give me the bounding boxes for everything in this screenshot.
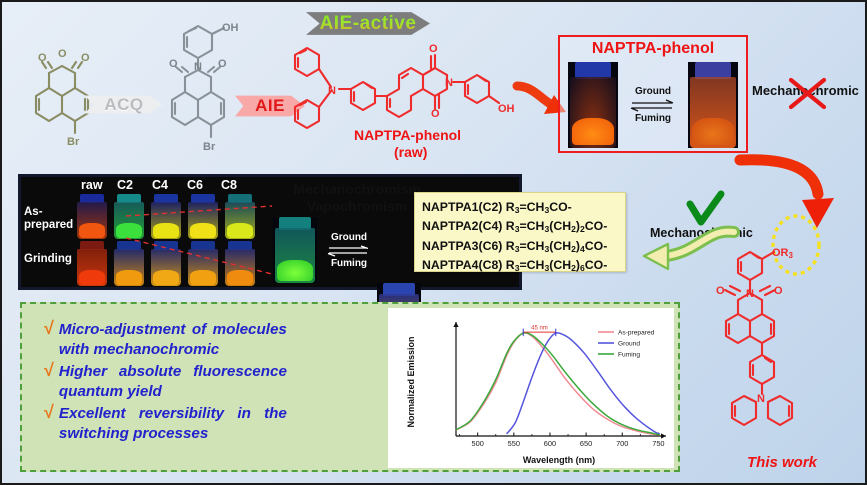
atom-label-o: O	[431, 108, 440, 120]
vial-as-prepared	[568, 62, 618, 148]
atom-label-br: Br	[203, 141, 216, 153]
formula-line-4: NAPTPA4(C8) R3=CH3(CH2)6CO-	[422, 257, 625, 276]
vial-col-header-raw: raw	[81, 178, 103, 192]
svg-text:600: 600	[544, 439, 556, 448]
this-work-molecule: O N O N OR3	[692, 224, 832, 439]
callout-connector-lines	[122, 190, 282, 282]
atom-label-o: O	[429, 43, 438, 55]
naptpa-phenol-name: NAPTPA-phenol	[354, 127, 461, 143]
highlight-text-1: Micro-adjustment of molecules with mecha…	[59, 320, 287, 360]
vial-raw-as-prepared	[76, 194, 108, 239]
naptpa-phenol-state: (raw)	[394, 144, 427, 160]
svg-text:550: 550	[508, 439, 520, 448]
series-as-prepared	[456, 333, 660, 435]
svg-text:750: 750	[652, 439, 664, 448]
atom-label-o: O	[38, 52, 47, 64]
aie-active-label: AIE-active	[320, 13, 417, 35]
vial-row-label-as-prepared: As-prepared	[24, 206, 76, 232]
atom-label-n: N	[194, 61, 202, 73]
legend-entry: As-prepared	[618, 329, 655, 336]
atom-label-n: N	[757, 393, 765, 405]
atom-label-oh: OH	[498, 103, 515, 115]
equilibrium-arrow	[630, 99, 676, 112]
callout-ground-label: Ground	[323, 232, 375, 244]
atom-label-n: N	[445, 77, 453, 89]
peak-shift-annotation: 45 nm	[531, 326, 548, 332]
atom-label-o: O	[774, 285, 783, 297]
svg-text:500: 500	[472, 439, 484, 448]
atom-label-n: N	[328, 85, 336, 97]
aie-active-banner: AIE-active	[306, 10, 430, 37]
check-icon: √	[44, 319, 54, 338]
y-axis-label: Normalized Emission	[406, 336, 416, 427]
equilibrium-arrow	[327, 245, 371, 257]
svg-text:650: 650	[580, 439, 592, 448]
x-axis-label: Wavelength (nm)	[523, 455, 595, 465]
mechanochromic-negative: Mechanochromic	[752, 82, 859, 100]
naptpa-phenol-panel: NAPTPA-phenol Ground Fuming	[558, 35, 748, 153]
atom-label-or3: OR3	[772, 247, 794, 260]
green-check-icon	[686, 192, 726, 228]
formula-box: NAPTPA1(C2) R3=CH3CO- NAPTPA2(C4) R3=CH3…	[414, 192, 626, 272]
highlight-text-2: Higher absolute fluorescence quantum yie…	[59, 362, 287, 402]
legend-entry: Ground	[618, 340, 640, 347]
atom-label-o: O	[218, 58, 227, 70]
callout-fuming-label: Fuming	[323, 258, 375, 270]
spectrum-plot: 50055060065070075045 nmNormalized Emissi…	[388, 308, 674, 468]
atom-label-oh: OH	[222, 22, 239, 34]
svg-text:700: 700	[616, 439, 628, 448]
atom-label-n: N	[746, 288, 754, 300]
formula-line-2: NAPTPA2(C4) R3=CH3(CH2)2CO-	[422, 218, 625, 237]
series-ground	[507, 333, 660, 434]
series-fuming	[456, 333, 660, 435]
check-icon: √	[44, 361, 54, 380]
formula-line-1: NAPTPA1(C2) R3=CH3CO-	[422, 199, 625, 218]
vial-ground	[688, 62, 738, 148]
graphical-abstract: O O O Br ACQ	[0, 0, 867, 485]
vial-row-label-grinding: Grinding	[24, 253, 72, 265]
red-cross-icon	[786, 76, 830, 112]
atom-label-o: O	[81, 52, 90, 64]
ground-label: Ground	[626, 86, 680, 98]
fuming-label: Fuming	[626, 113, 680, 125]
check-icon: √	[44, 403, 54, 422]
emission-spectrum-chart: 50055060065070075045 nmNormalized Emissi…	[388, 308, 674, 468]
atom-label-o: O	[169, 58, 178, 70]
atom-label-o: O	[716, 285, 725, 297]
panel-title: NAPTPA-phenol	[560, 40, 746, 58]
atom-label-o: O	[58, 48, 67, 60]
this-work-label: This work	[747, 454, 817, 471]
highlight-text-3: Excellent reversibility in the switching…	[59, 404, 287, 444]
atom-label-br: Br	[67, 136, 80, 148]
formula-line-3: NAPTPA3(C6) R3=CH3(CH2)4CO-	[422, 238, 625, 257]
legend-entry: Fuming	[618, 351, 640, 358]
vial-raw-grinding	[76, 241, 108, 286]
